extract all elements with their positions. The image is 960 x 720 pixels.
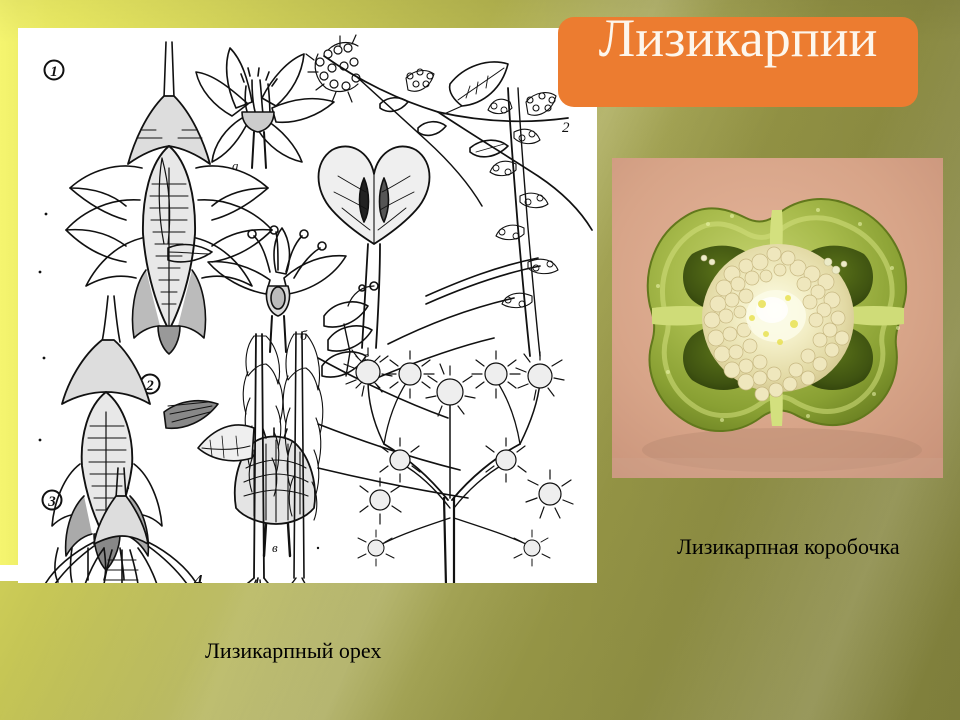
- botanical-illustration-drawing: 1: [18, 28, 597, 583]
- svg-text:в: в: [272, 540, 278, 555]
- svg-text:2: 2: [562, 120, 570, 136]
- svg-text:3: 3: [47, 494, 56, 510]
- botanical-illustration-panel: 1: [18, 28, 597, 583]
- slide-title: Лизикарпии: [558, 11, 918, 66]
- caption-lizikarpny-oreh: Лизикарпный орех: [205, 638, 381, 664]
- bell-pepper-cross-section-photo: [612, 158, 943, 478]
- illustration-panel-notch: [0, 565, 20, 581]
- svg-text:а: а: [232, 158, 239, 173]
- caption-lizikarpnaya-korobochka: Лизикарпная коробочка: [677, 534, 900, 560]
- svg-text:б: б: [300, 329, 308, 344]
- svg-text:4: 4: [193, 571, 203, 583]
- pepper-photo-graphic: [612, 158, 943, 478]
- presentation-slide: 1: [0, 0, 960, 720]
- svg-text:1: 1: [50, 64, 58, 80]
